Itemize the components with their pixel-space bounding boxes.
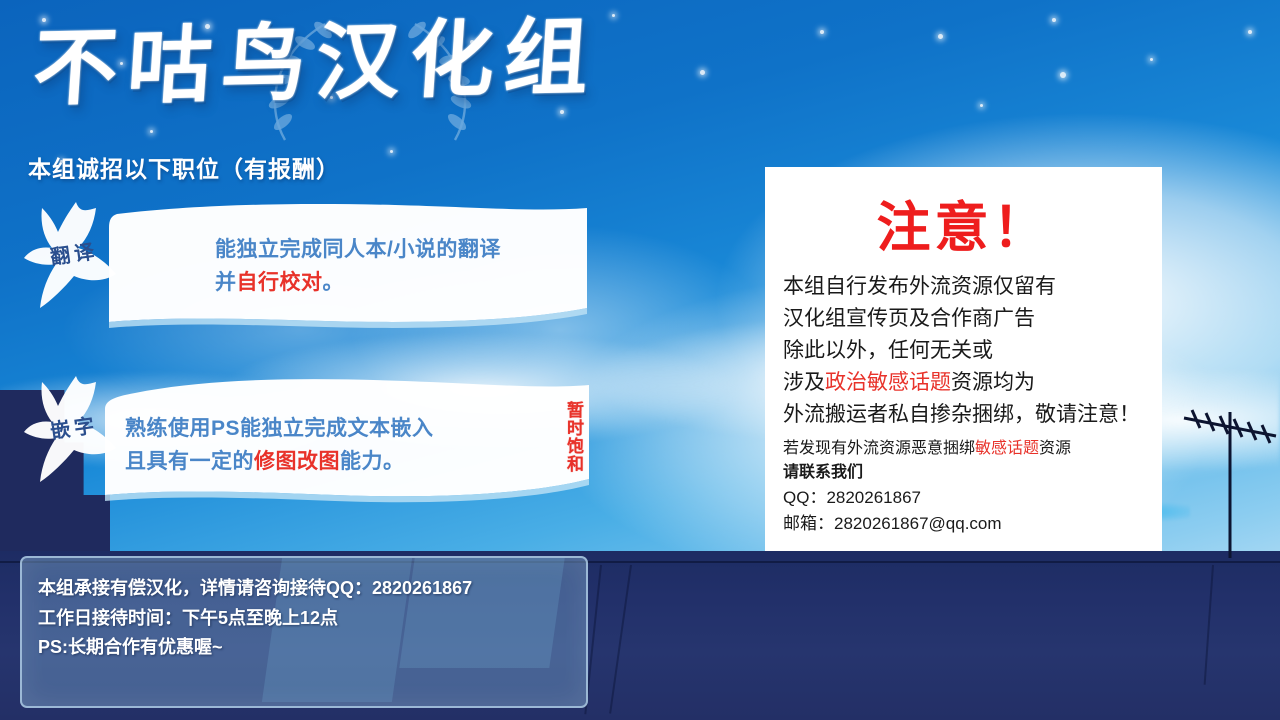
notice-line-2: 汉化组宣传页及合作商广告 — [783, 303, 1154, 335]
req-line-1: 能独立完成同人本/小说的翻译 — [215, 238, 501, 261]
position-requirements: 能独立完成同人本/小说的翻译 并自行校对。 — [215, 234, 501, 299]
notice-line-3: 除此以外，任何无关或 — [783, 335, 1154, 367]
notice-line-1: 本组自行发布外流资源仅留有 — [783, 271, 1154, 303]
info-line-1: 本组承接有偿汉化，详情请咨询接待QQ：2820261867 — [38, 574, 472, 604]
contact-qq[interactable]: QQ：2820261867 — [783, 485, 1154, 511]
small-suffix: 资源 — [1039, 440, 1071, 457]
position-requirements: 熟练使用PS能独立完成文本嵌入 且具有一定的修图改图能力。 — [125, 413, 434, 478]
req-line-2-prefix: 并 — [215, 271, 237, 294]
req-line-2-suffix: 。 — [323, 271, 345, 294]
position-banner-typesetting: 熟练使用PS能独立完成文本嵌入 且具有一定的修图改图能力。 暂时饱和 — [95, 375, 595, 505]
small-highlight: 敏感话题 — [975, 440, 1039, 457]
service-info-box: 本组承接有偿汉化，详情请咨询接待QQ：2820261867 工作日接待时间：下午… — [20, 556, 588, 708]
page-title: 不咕鸟汉化组 — [30, 8, 757, 117]
req-line-2-suffix: 能力。 — [340, 450, 405, 473]
recruit-subtitle: 本组诚招以下职位（有报酬） — [28, 150, 340, 184]
notice-line-4-suffix: 资源均为 — [951, 371, 1035, 394]
tv-antenna-icon — [1180, 398, 1280, 558]
notice-small-note: 若发现有外流资源恶意捆绑敏感话题资源 — [783, 437, 1154, 461]
notice-panel: 注意！ 本组自行发布外流资源仅留有 汉化组宣传页及合作商广告 除此以外，任何无关… — [765, 167, 1162, 551]
notice-line-4: 涉及政治敏感话题资源均为 — [783, 367, 1154, 399]
contact-email[interactable]: 邮箱：2820261867@qq.com — [783, 511, 1154, 537]
req-line-2-prefix: 且具有一定的 — [125, 450, 254, 473]
notice-title: 注意！ — [765, 183, 1162, 262]
small-prefix: 若发现有外流资源恶意捆绑 — [783, 440, 975, 457]
info-line-2: 工作日接待时间：下午5点至晚上12点 — [38, 604, 472, 634]
req-line-2-highlight: 自行校对 — [237, 271, 323, 294]
info-line-3: PS:长期合作有优惠喔~ — [38, 633, 472, 663]
notice-line-4-highlight: 政治敏感话题 — [825, 371, 951, 394]
notice-body: 本组自行发布外流资源仅留有 汉化组宣传页及合作商广告 除此以外，任何无关或 涉及… — [783, 271, 1154, 537]
position-banner-translation: 能独立完成同人本/小说的翻译 并自行校对。 — [95, 200, 595, 330]
req-line-1: 熟练使用PS能独立完成文本嵌入 — [125, 417, 434, 440]
contact-cta[interactable]: 请联系我们 — [783, 461, 1154, 485]
poster-canvas: 不咕鸟汉化组 本组诚招以下职位（有报酬） 翻译 能独立完成 — [0, 0, 1280, 720]
req-line-2-highlight: 修图改图 — [254, 450, 340, 473]
service-info-text: 本组承接有偿汉化，详情请咨询接待QQ：2820261867 工作日接待时间：下午… — [38, 574, 472, 663]
notice-line-4-prefix: 涉及 — [783, 371, 825, 394]
status-stamp-saturated: 暂时饱和 — [557, 401, 583, 473]
notice-line-5: 外流搬运者私自掺杂捆绑，敬请注意！ — [783, 399, 1154, 431]
